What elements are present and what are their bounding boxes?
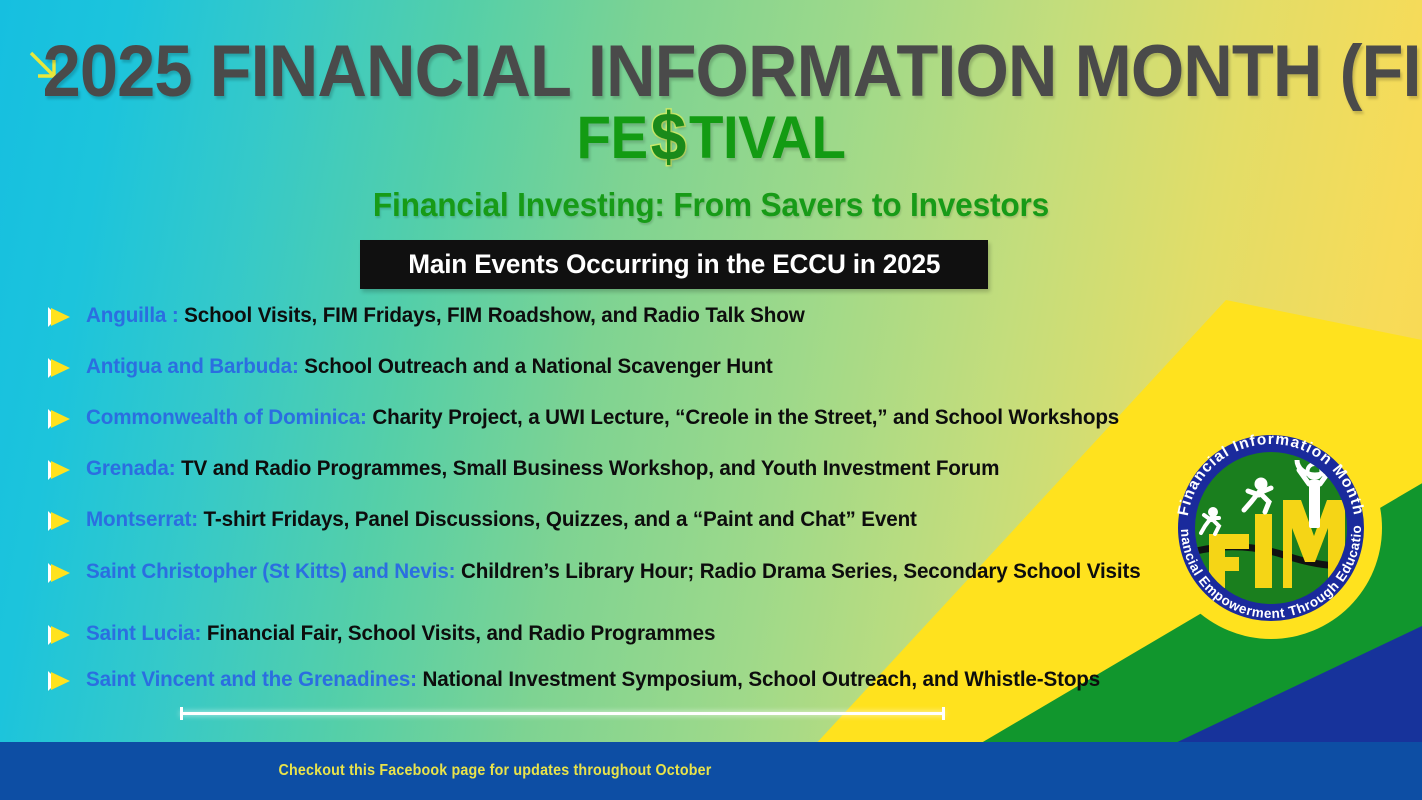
list-item: Saint Vincent and the Grenadines: Nation…: [46, 667, 1142, 692]
event-detail: School Outreach and a National Scavenger…: [299, 354, 773, 378]
list-item-text: Commonwealth of Dominica: Charity Projec…: [86, 405, 1119, 430]
bullet-triangle-icon: [46, 624, 72, 646]
subtitle: Financial Investing: From Savers to Inve…: [28, 186, 1393, 224]
festival-title: FE$TIVAL: [43, 103, 1380, 172]
country-name: Grenada:: [86, 456, 175, 480]
event-detail: Children’s Library Hour; Radio Drama Ser…: [455, 559, 1140, 583]
poster-canvas: 2025 FINANCIAL INFORMATION MONTH (FIM) F…: [0, 0, 1422, 800]
list-item: Anguilla : School Visits, FIM Fridays, F…: [46, 303, 835, 328]
bullet-triangle-icon: [46, 562, 72, 584]
country-name: Commonwealth of Dominica:: [86, 405, 367, 429]
festival-suffix: TIVAL: [689, 103, 845, 172]
event-detail: National Investment Symposium, School Ou…: [417, 667, 1100, 691]
list-item-text: Saint Christopher (St Kitts) and Nevis: …: [86, 559, 1141, 584]
list-item-text: Montserrat: T-shirt Fridays, Panel Discu…: [86, 507, 917, 532]
bullet-triangle-icon: [46, 670, 72, 692]
bullet-triangle-icon: [46, 510, 72, 532]
main-events-banner: Main Events Occurring in the ECCU in 202…: [360, 240, 988, 289]
bullet-triangle-icon: [46, 357, 72, 379]
list-item: Grenada: TV and Radio Programmes, Small …: [46, 456, 1037, 481]
country-name: Anguilla :: [86, 303, 179, 327]
footer-text: Checkout this Facebook page for updates …: [40, 742, 951, 800]
festival-prefix: FE: [577, 103, 648, 172]
list-item-text: Saint Vincent and the Grenadines: Nation…: [86, 667, 1100, 692]
event-detail: Charity Project, a UWI Lecture, “Creole …: [367, 405, 1119, 429]
country-name: Saint Lucia:: [86, 621, 201, 645]
event-detail: Financial Fair, School Visits, and Radio…: [201, 621, 715, 645]
event-detail: TV and Radio Programmes, Small Business …: [175, 456, 999, 480]
page-title: 2025 FINANCIAL INFORMATION MONTH (FIM): [43, 30, 1380, 113]
banner-label: Main Events Occurring in the ECCU in 202…: [408, 249, 940, 280]
divider-line: [180, 712, 945, 715]
bullet-triangle-icon: [46, 306, 72, 328]
fim-logo: $ Financial Information Month Financial …: [1157, 414, 1385, 642]
country-name: Saint Vincent and the Grenadines:: [86, 667, 417, 691]
list-item-text: Saint Lucia: Financial Fair, School Visi…: [86, 621, 715, 646]
list-item: Saint Christopher (St Kitts) and Nevis: …: [46, 559, 1184, 584]
list-item-text: Anguilla : School Visits, FIM Fridays, F…: [86, 303, 805, 328]
list-item: Montserrat: T-shirt Fridays, Panel Discu…: [46, 507, 951, 532]
list-item-text: Antigua and Barbuda: School Outreach and…: [86, 354, 773, 379]
event-detail: School Visits, FIM Fridays, FIM Roadshow…: [179, 303, 805, 327]
bullet-triangle-icon: [46, 459, 72, 481]
list-item: Saint Lucia: Financial Fair, School Visi…: [46, 621, 742, 646]
country-name: Montserrat:: [86, 507, 198, 531]
country-name: Saint Christopher (St Kitts) and Nevis:: [86, 559, 455, 583]
list-item: Commonwealth of Dominica: Charity Projec…: [46, 405, 1162, 430]
country-name: Antigua and Barbuda:: [86, 354, 299, 378]
event-detail: T-shirt Fridays, Panel Discussions, Quiz…: [198, 507, 917, 531]
bullet-triangle-icon: [46, 408, 72, 430]
list-item-text: Grenada: TV and Radio Programmes, Small …: [86, 456, 999, 481]
list-item: Antigua and Barbuda: School Outreach and…: [46, 354, 801, 379]
